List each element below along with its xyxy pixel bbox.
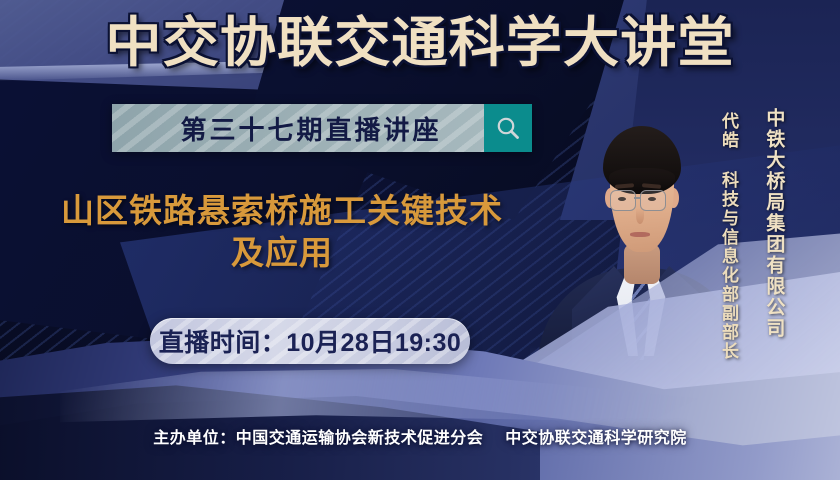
episode-bar: 第三十七期直播讲座: [112, 104, 532, 152]
portrait-mouth: [630, 232, 650, 237]
lecture-title-line-1: 山区铁路悬索桥施工关键技术: [22, 190, 542, 232]
lecture-title-line-2: 及应用: [22, 232, 542, 274]
livestream-poster: 中交协联交通科学大讲堂 第三十七期直播讲座 山区铁路悬索桥施工关键技术 及应用 …: [0, 0, 840, 480]
speaker-organization: 中铁大桥局集团有限公司: [762, 108, 784, 339]
glasses-icon: [610, 190, 636, 211]
search-button[interactable]: [484, 104, 532, 152]
glasses-bridge: [634, 197, 640, 199]
footer-org-2: 中交协联交通科学研究院: [505, 430, 687, 447]
page-title: 中交协联交通科学大讲堂: [0, 16, 840, 70]
footer-prefix: 主办单位：: [153, 430, 236, 447]
livestream-time-text: 直播时间：10月28日19:30: [159, 323, 462, 359]
search-icon: [494, 114, 522, 142]
speaker-name-and-role: 代皓 科技与信息化部副部长: [718, 112, 738, 361]
footer-organizers: 主办单位：中国交通运输协会新技术促进分会中交协联交通科学研究院: [0, 424, 840, 448]
lecture-title: 山区铁路悬索桥施工关键技术 及应用: [22, 190, 542, 274]
portrait-nose: [636, 208, 644, 224]
episode-label: 第三十七期直播讲座: [112, 110, 484, 147]
footer-org-1: 中国交通运输协会新技术促进分会: [236, 430, 484, 447]
livestream-time-badge: 直播时间：10月28日19:30: [150, 318, 470, 364]
